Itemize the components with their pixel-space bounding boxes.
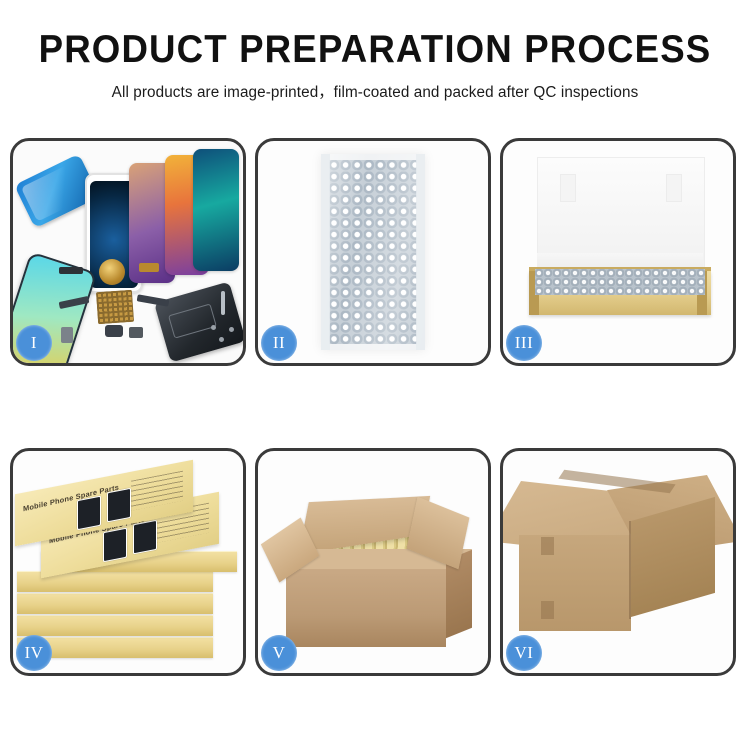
process-step-1: I — [10, 138, 246, 366]
screw-1-icon — [219, 337, 224, 342]
carton-tape-tab-bottom — [541, 601, 554, 619]
screen-photo-lower-b — [133, 520, 157, 555]
tweezers-icon — [221, 291, 225, 315]
step-badge-6: VI — [506, 635, 542, 671]
process-step-6: VI — [500, 448, 736, 676]
wrapped-items-in-tray — [535, 269, 705, 295]
pouch-edge-left — [321, 154, 330, 350]
phone-back-housing-icon — [154, 281, 243, 362]
process-step-5: V — [255, 448, 491, 676]
plastic-sheen — [321, 154, 425, 350]
bubble-pouch — [321, 154, 425, 350]
products-assortment-image — [13, 141, 243, 363]
sealed-carton-front-face — [519, 535, 631, 631]
flex-cable-right-icon — [137, 294, 170, 306]
sim-tray-icon — [61, 327, 73, 343]
open-kraft-box-image — [503, 141, 733, 363]
stack-box-4 — [17, 615, 213, 636]
logic-board-icon — [96, 290, 134, 324]
screen-photo-lower-a — [103, 528, 127, 563]
stack-box-3 — [17, 593, 213, 614]
open-carton-image — [258, 451, 488, 673]
camera-module-icon — [105, 325, 123, 337]
process-step-2: II — [255, 138, 491, 366]
process-step-3: III — [500, 138, 736, 366]
bubble-wrap-pouch-image — [258, 141, 488, 363]
step-badge-2: II — [261, 325, 297, 361]
lid-ear-right — [666, 174, 682, 202]
battery-connector-icon — [59, 267, 83, 274]
screw-3-icon — [211, 325, 216, 330]
screw-2-icon — [229, 327, 234, 332]
step-badge-1: I — [16, 325, 52, 361]
screen-photo-upper-b — [107, 488, 131, 523]
box-stack: Mobile Phone Spare Parts Mobile Phone Sp… — [13, 451, 243, 673]
lid-ear-left — [560, 174, 576, 202]
screen-photo-upper-a — [77, 496, 101, 531]
carton-vertical-edge — [629, 521, 631, 619]
page-subtitle: All products are image-printed，film-coat… — [6, 80, 745, 102]
stacked-retail-boxes-image: Mobile Phone Spare Parts Mobile Phone Sp… — [13, 451, 243, 673]
sealed-carton-image — [503, 451, 733, 673]
header: PRODUCT PREPARATION PROCESS All products… — [0, 0, 750, 102]
carton-front-face — [286, 569, 446, 647]
carton-tape-tab-top — [541, 537, 554, 555]
spec-lines-upper — [131, 471, 183, 511]
teal-phone-icon — [193, 149, 239, 271]
product-preparation-infographic: PRODUCT PREPARATION PROCESS All products… — [0, 0, 750, 750]
pouch-edge-right — [416, 154, 425, 350]
page-title: PRODUCT PREPARATION PROCESS — [23, 28, 728, 72]
process-step-grid: I II — [10, 138, 740, 738]
speaker-module-icon — [129, 327, 143, 338]
box-label-upper: Mobile Phone Spare Parts — [23, 482, 119, 513]
step-badge-5: V — [261, 635, 297, 671]
wireless-coil-icon — [99, 259, 125, 285]
step-badge-4: IV — [16, 635, 52, 671]
gold-contact-icon — [139, 263, 159, 272]
process-step-4: Mobile Phone Spare Parts Mobile Phone Sp… — [10, 448, 246, 676]
step-badge-3: III — [506, 325, 542, 361]
